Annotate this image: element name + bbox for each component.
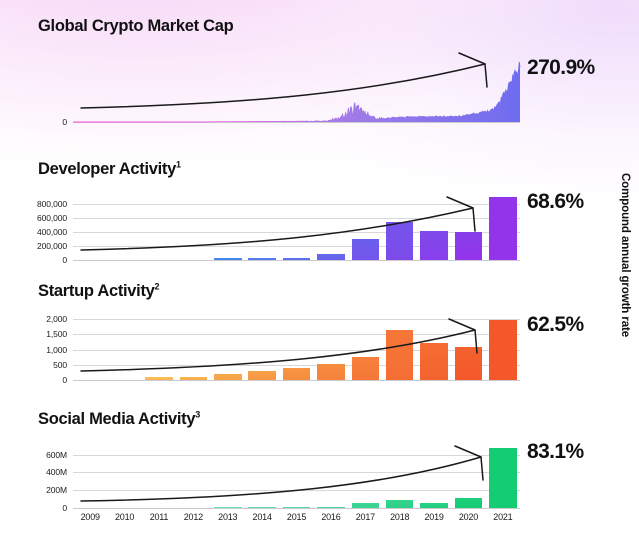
y-axis-tick-label: 500	[53, 360, 67, 370]
vertical-axis-label: Compound annual growth rate	[615, 163, 635, 503]
panel-title-text: Global Crypto Market Cap	[38, 17, 233, 35]
trend-arrow-crypto	[73, 52, 520, 122]
trend-arrow-social	[73, 444, 520, 508]
gridline	[73, 380, 520, 381]
y-axis-tick-label: 800,000	[37, 199, 67, 209]
gridline	[73, 508, 520, 509]
infographic-root: Global Crypto Market Cap 01T2T3T 270.9% …	[0, 0, 639, 540]
x-axis-year-label: 2010	[107, 512, 141, 522]
cagr-value-startup: 62.5%	[527, 313, 584, 337]
x-axis-year-label: 2021	[486, 512, 520, 522]
y-axis-tick-label: 400M	[46, 467, 67, 477]
y-axis-tick-label: 0	[62, 255, 67, 265]
cagr-value-crypto: 270.9%	[527, 56, 595, 80]
footnote-marker-3: 3	[195, 410, 200, 420]
y-axis-tick-label: 600,000	[37, 213, 67, 223]
panel-title-crypto: Global Crypto Market Cap	[38, 17, 233, 36]
trend-arrowhead	[447, 197, 475, 231]
y-axis-tick-label: 200,000	[37, 241, 67, 251]
chart-developer-activity: 0200,000400,000600,000800,000	[73, 194, 520, 260]
footnote-marker-2: 2	[155, 282, 160, 292]
x-axis-year-label: 2016	[314, 512, 348, 522]
panel-crypto-market-cap: Global Crypto Market Cap 01T2T3T 270.9%	[0, 0, 639, 150]
panel-title-developer: Developer Activity1	[38, 160, 181, 179]
y-axis-tick-label: 2,000	[46, 314, 67, 324]
trend-curve	[81, 64, 485, 108]
chart-social-media-activity: 0200M400M600M	[73, 444, 520, 508]
y-axis-tick-label: 600M	[46, 450, 67, 460]
panel-title-text: Social Media Activity	[38, 410, 195, 428]
x-axis-year-label: 2019	[417, 512, 451, 522]
x-axis-year-label: 2020	[451, 512, 485, 522]
x-axis-year-label: 2017	[348, 512, 382, 522]
x-axis-year-label: 2018	[383, 512, 417, 522]
y-axis-tick-label: 0	[62, 503, 67, 513]
chart-crypto-market-cap: 01T2T3T	[73, 52, 520, 122]
cagr-value-social: 83.1%	[527, 440, 584, 464]
y-axis-tick-label: 400,000	[37, 227, 67, 237]
y-axis-tick-label: 0	[62, 375, 67, 385]
y-axis-tick-label: 1,500	[46, 329, 67, 339]
x-axis-year-label: 2011	[142, 512, 176, 522]
panel-title-social: Social Media Activity3	[38, 410, 200, 429]
trend-arrow-developer	[73, 194, 520, 260]
trend-arrow-startup	[73, 316, 520, 380]
x-axis-year-label: 2013	[211, 512, 245, 522]
y-axis-tick-label: 0	[62, 117, 67, 127]
vertical-axis-label-text: Compound annual growth rate	[619, 173, 631, 337]
footnote-marker-1: 1	[176, 160, 181, 170]
panel-startup-activity: Startup Activity2 05001,0001,5002,000 62…	[0, 275, 639, 395]
panel-title-text: Developer Activity	[38, 160, 176, 178]
panel-title-text: Startup Activity	[38, 282, 155, 300]
chart-startup-activity: 05001,0001,5002,000	[73, 316, 520, 380]
panel-developer-activity: Developer Activity1 0200,000400,000600,0…	[0, 150, 639, 270]
x-axis-year-label: 2015	[279, 512, 313, 522]
x-axis-year-label: 2009	[73, 512, 107, 522]
y-axis-tick-label: 200M	[46, 485, 67, 495]
trend-curve	[81, 457, 481, 501]
panel-title-startup: Startup Activity2	[38, 282, 159, 301]
x-axis-years: 2009201020112012201320142015201620172018…	[73, 512, 520, 522]
x-axis-year-label: 2014	[245, 512, 279, 522]
trend-arrowhead	[459, 53, 487, 87]
cagr-value-developer: 68.6%	[527, 190, 584, 214]
x-axis-year-label: 2012	[176, 512, 210, 522]
trend-curve	[81, 208, 473, 250]
y-axis-tick-label: 1,000	[46, 345, 67, 355]
gridline	[73, 260, 520, 261]
trend-curve	[81, 330, 475, 371]
